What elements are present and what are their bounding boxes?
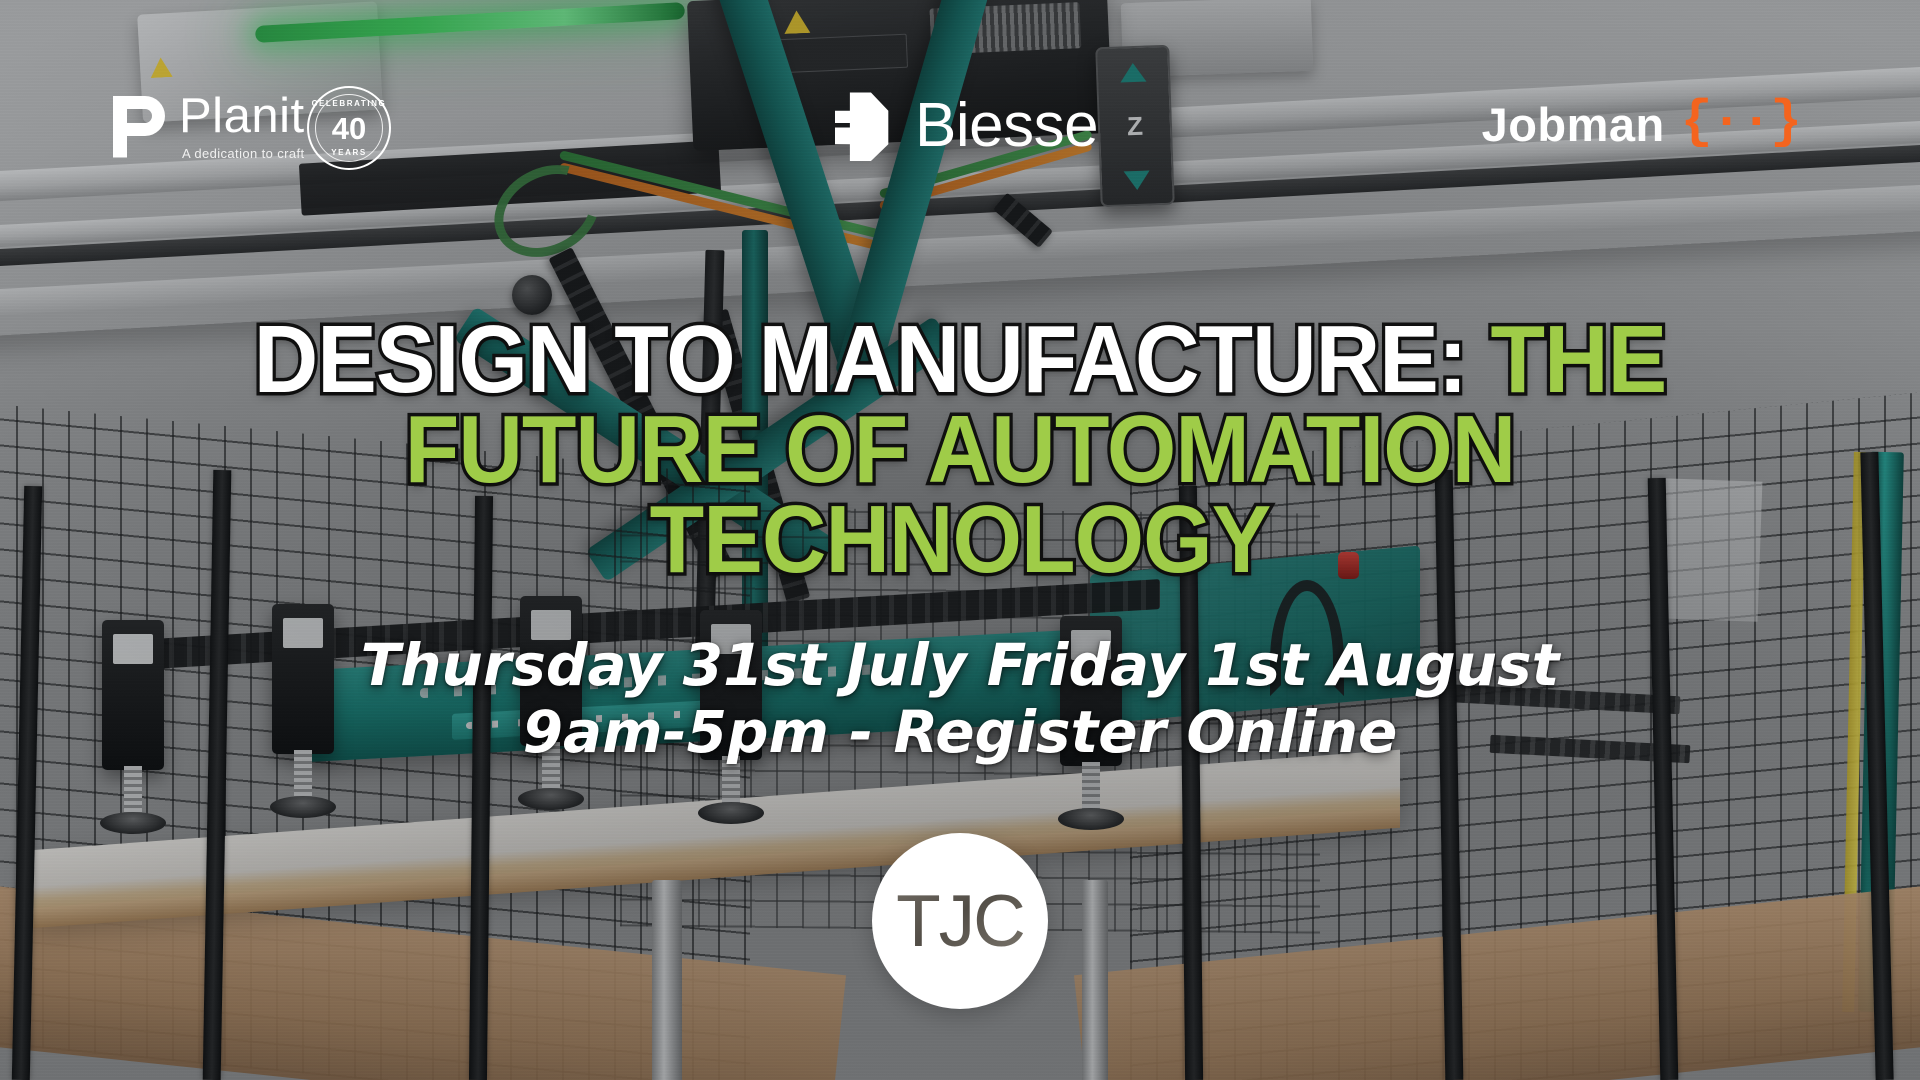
planit-name: Planit bbox=[179, 92, 305, 141]
event-times-cta: 9am-5pm - Register Online bbox=[0, 699, 1920, 766]
jobman-brackets-icon: {··} bbox=[1681, 96, 1800, 149]
planit-p-icon bbox=[113, 96, 165, 158]
badge-bottom-text: YEARS bbox=[309, 148, 389, 157]
biesse-logo: Biesse bbox=[835, 88, 1098, 164]
badge-top-text: CELEBRATING bbox=[309, 99, 389, 108]
headline-line-3: TECHNOLOGY bbox=[67, 495, 1853, 585]
headline-line-1: DESIGN TO MANUFACTURE: THE bbox=[67, 315, 1853, 405]
logo-bar: Planit A dedication to craft CELEBRATING… bbox=[0, 92, 1920, 182]
banner-content: Planit A dedication to craft CELEBRATING… bbox=[0, 0, 1920, 1080]
event-banner: Z bbox=[0, 0, 1920, 1080]
planit-p-stem bbox=[113, 96, 127, 158]
event-details: Thursday 31st July Friday 1st August 9am… bbox=[0, 632, 1920, 767]
jobman-logo: Jobman {··} bbox=[1482, 98, 1800, 151]
anniversary-badge: CELEBRATING 40 YEARS bbox=[307, 86, 391, 170]
biesse-b-icon bbox=[835, 88, 897, 164]
planit-logo: Planit A dedication to craft bbox=[113, 92, 305, 161]
jobman-name: Jobman bbox=[1482, 101, 1665, 148]
tjc-initials: TJC bbox=[896, 885, 1024, 958]
headline: DESIGN TO MANUFACTURE: THE FUTURE OF AUT… bbox=[67, 315, 1853, 586]
planit-tagline: A dedication to craft bbox=[179, 146, 305, 161]
headline-line-1-green: THE bbox=[1491, 306, 1667, 413]
planit-wordmark: Planit A dedication to craft bbox=[179, 92, 305, 161]
headline-line-2: FUTURE OF AUTOMATION bbox=[67, 405, 1853, 495]
tjc-roundel: TJC bbox=[872, 833, 1048, 1009]
event-dates: Thursday 31st July Friday 1st August bbox=[0, 632, 1920, 699]
biesse-name: Biesse bbox=[915, 95, 1098, 157]
planit-p-bowl bbox=[127, 96, 165, 136]
biesse-b-shape bbox=[835, 88, 897, 164]
